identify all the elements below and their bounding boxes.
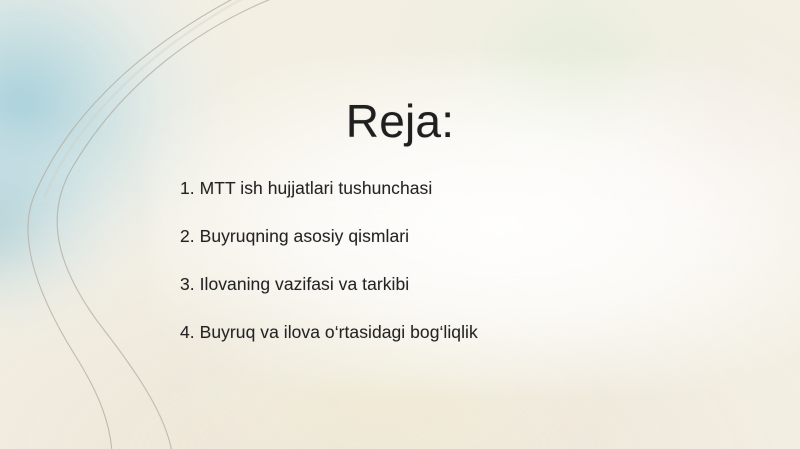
slide-title: Reja:	[0, 97, 800, 145]
agenda-item-4: 4. Buyruq va ilova o‘rtasidagi bog‘liqli…	[180, 324, 650, 342]
slide-content: Reja: 1. MTT ish hujjatlari tushunchasi …	[0, 0, 800, 449]
presentation-slide: Reja: 1. MTT ish hujjatlari tushunchasi …	[0, 0, 800, 449]
agenda-item-3: 3. Ilovaning vazifasi va tarkibi	[180, 276, 650, 294]
agenda-item-2: 2. Buyruqning asosiy qismlari	[180, 228, 650, 246]
agenda-list: 1. MTT ish hujjatlari tushunchasi 2. Buy…	[180, 180, 650, 342]
agenda-item-1: 1. MTT ish hujjatlari tushunchasi	[180, 180, 650, 198]
